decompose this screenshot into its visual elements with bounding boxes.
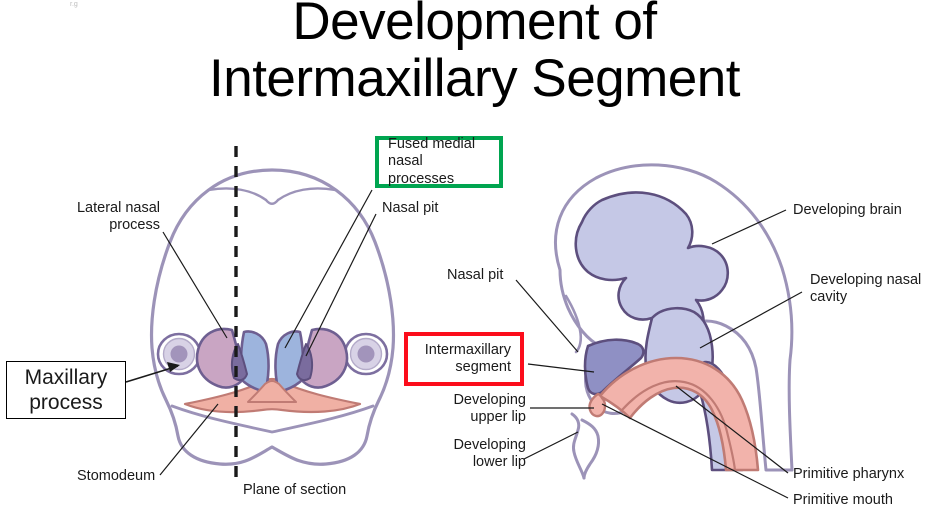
callout-maxillary-process[interactable]: Maxillary process: [6, 361, 126, 419]
face-outline-path: [152, 170, 394, 464]
callout-intermaxillary-segment[interactable]: Intermaxillary segment: [404, 332, 524, 386]
label-primitive-pharynx: Primitive pharynx: [793, 466, 949, 483]
label-primitive-mouth: Primitive mouth: [793, 492, 949, 509]
label-developing-nasal-cavity: Developing nasal cavity: [810, 272, 949, 306]
eye-right: [345, 334, 387, 374]
eye-left: [158, 334, 200, 374]
label-stomodeum: Stomodeum: [77, 468, 187, 485]
label-lateral-nasal-process: Lateral nasal process: [30, 200, 160, 234]
slide-canvas: r.g Development of Intermaxillary Segmen…: [0, 0, 949, 516]
label-nasal-pit-frontal: Nasal pit: [382, 200, 492, 217]
mandibular-prominence-contour: [572, 414, 584, 478]
leader-developing-lower-lip: [524, 432, 578, 459]
label-developing-lower-lip: Developing lower lip: [408, 437, 526, 471]
primitive-pharynx-arch: [600, 358, 758, 470]
left-frontal-face-figure: [126, 146, 393, 478]
callout-maxillary-text: Maxillary process: [17, 365, 115, 415]
label-developing-upper-lip: Developing upper lip: [408, 392, 526, 426]
callout-intermaxillary-text: Intermaxillary segment: [417, 342, 511, 377]
right-sagittal-head-figure: [516, 165, 802, 498]
label-plane-of-section: Plane of section: [243, 482, 403, 499]
developing-lower-lip: [582, 420, 599, 478]
label-developing-brain: Developing brain: [793, 202, 943, 219]
label-nasal-pit-sagittal: Nasal pit: [447, 267, 542, 284]
callout-fused-medial-text: Fused medial nasal processes: [388, 136, 490, 188]
callout-fused-medial-nasal-processes[interactable]: Fused medial nasal processes: [375, 136, 503, 188]
medial-nasal-process-left: [241, 332, 269, 393]
